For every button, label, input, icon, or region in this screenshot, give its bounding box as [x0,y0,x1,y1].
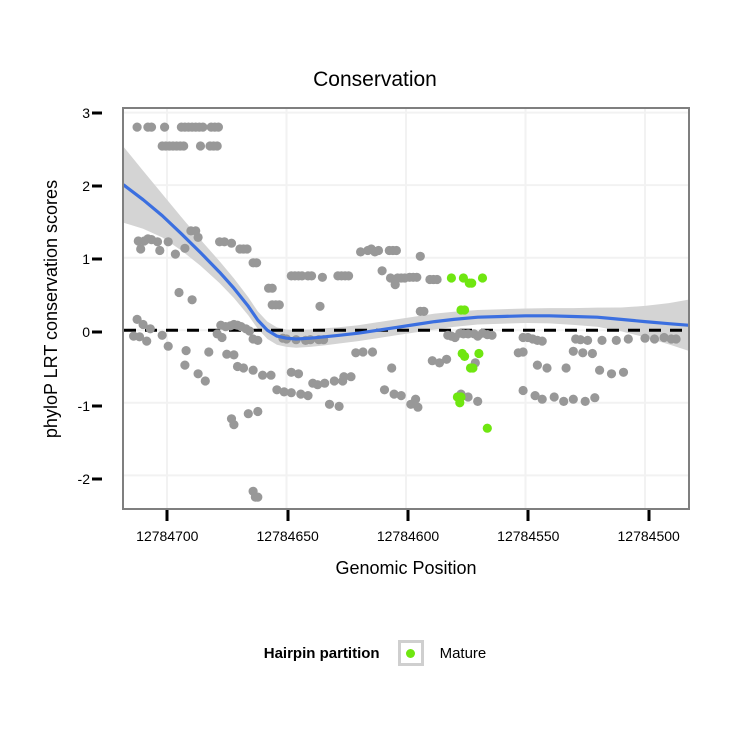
data-point-other [158,331,167,340]
data-point-other [358,347,367,356]
data-point-other [562,363,571,372]
plot-panel [122,107,690,510]
data-point-other [397,391,406,400]
data-point-other [243,244,252,253]
data-point-other [416,307,425,316]
y-tick-mark [92,184,102,187]
data-point-other [229,420,238,429]
x-tick-mark [166,510,169,521]
data-point-other [433,275,442,284]
data-point-other [147,123,156,132]
data-point-other [533,361,542,370]
data-point-other [595,366,604,375]
data-point-other [487,331,496,340]
data-point-other [583,336,592,345]
data-point-mature [478,273,487,282]
data-point-mature [474,349,483,358]
data-point-other [179,141,188,150]
x-tick-label: 12784500 [618,528,680,544]
data-point-other [180,361,189,370]
x-tick-mark [527,510,530,521]
data-point-other [229,350,238,359]
data-point-other [198,123,207,132]
data-point-other [542,363,551,372]
data-point-other [155,246,164,255]
y-tick-label: 2 [82,178,90,194]
data-point-other [378,266,387,275]
data-point-mature [460,352,469,361]
chart-title: Conservation [0,68,750,92]
data-point-other [174,288,183,297]
data-point-other [182,346,191,355]
data-point-other [315,302,324,311]
y-tick-label: -1 [78,398,90,414]
data-point-other [619,368,628,377]
data-point-other [196,141,205,150]
data-point-other [153,237,162,246]
data-point-other [244,409,253,418]
data-point-other [514,348,523,357]
data-point-other [473,397,482,406]
data-point-other [330,376,339,385]
data-point-other [374,246,383,255]
data-point-other [146,324,155,333]
legend: Hairpin partition Mature [0,640,750,666]
data-point-other [204,347,213,356]
chart-root: Conservation phyloP LRT conservation sco… [0,0,750,750]
x-tick-label: 12784650 [257,528,319,544]
data-point-other [287,388,296,397]
y-tick-label: 3 [82,105,90,121]
data-point-other [325,400,334,409]
data-point-other [519,386,528,395]
data-point-other [624,334,633,343]
data-point-other [391,280,400,289]
data-point-other [253,493,262,502]
data-point-mature [467,279,476,288]
data-point-other [550,392,559,401]
data-point-other [612,336,621,345]
data-point-other [392,246,401,255]
data-point-other [213,141,222,150]
legend-key-mature[interactable] [398,640,424,666]
data-point-other [171,250,180,259]
data-point-other [249,366,258,375]
data-point-other [164,237,173,246]
y-tick-label: -2 [78,471,90,487]
data-point-other [640,334,649,343]
mature-dot-icon [406,649,415,658]
x-axis-title: Genomic Position [122,558,690,579]
data-point-other [380,385,389,394]
data-point-mature [447,273,456,282]
data-point-other [387,363,396,372]
data-point-other [164,342,173,351]
x-tick-label: 12784600 [377,528,439,544]
data-point-other [344,271,353,280]
data-point-other [442,355,451,364]
data-point-other [538,337,547,346]
data-point-other [188,295,197,304]
data-point-other [368,347,377,356]
data-point-other [252,258,261,267]
data-point-other [294,369,303,378]
data-point-mature [460,305,469,314]
data-point-other [607,369,616,378]
data-point-other [275,300,284,309]
data-point-other [559,397,568,406]
data-point-mature [483,424,492,433]
y-tick-mark [92,331,102,334]
data-point-mature [468,363,477,372]
data-point-other [597,336,606,345]
data-point-other [239,363,248,372]
data-point-other [650,334,659,343]
data-point-other [133,123,142,132]
y-axis-title: phyloP LRT conservation scores [41,107,62,510]
x-tick-mark [286,510,289,521]
data-point-other [413,403,422,412]
data-point-other [214,123,223,132]
y-tick-label: 0 [82,324,90,340]
legend-title: Hairpin partition [264,645,380,662]
legend-label-mature: Mature [440,645,487,662]
data-point-other [581,397,590,406]
data-point-other [307,271,316,280]
data-point-other [268,284,277,293]
data-point-other [253,407,262,416]
data-point-other [416,252,425,261]
data-point-other [160,123,169,132]
data-point-mature [455,398,464,407]
data-point-other [217,333,226,342]
data-point-other [303,391,312,400]
data-point-other [320,379,329,388]
data-point-other [245,326,254,335]
data-point-other [194,233,203,242]
plot-svg [124,109,688,508]
data-point-other [569,347,578,356]
data-point-other [201,376,210,385]
y-axis: phyloP LRT conservation scores -2-10123 [0,107,122,510]
data-point-other [588,349,597,358]
x-tick-label: 12784700 [136,528,198,544]
data-point-other [136,244,145,253]
x-tick-mark [647,510,650,521]
data-point-other [569,395,578,404]
data-point-other [266,371,275,380]
data-point-other [194,369,203,378]
y-tick-mark [92,258,102,261]
y-tick-mark [92,111,102,114]
data-point-other [227,239,236,248]
data-point-other [672,334,681,343]
x-axis: Genomic Position 12784700127846501278460… [122,510,690,590]
data-point-other [318,273,327,282]
y-tick-mark [92,478,102,481]
data-point-other [335,402,344,411]
data-point-other [142,337,151,346]
x-tick-mark [407,510,410,521]
data-point-other [538,395,547,404]
data-point-other [590,393,599,402]
data-point-other [578,348,587,357]
y-tick-mark [92,404,102,407]
data-point-other [180,244,189,253]
y-tick-label: 1 [82,251,90,267]
data-point-other [253,336,262,345]
data-point-other [412,273,421,282]
data-point-other [258,371,267,380]
data-point-other [346,372,355,381]
x-tick-label: 12784550 [497,528,559,544]
